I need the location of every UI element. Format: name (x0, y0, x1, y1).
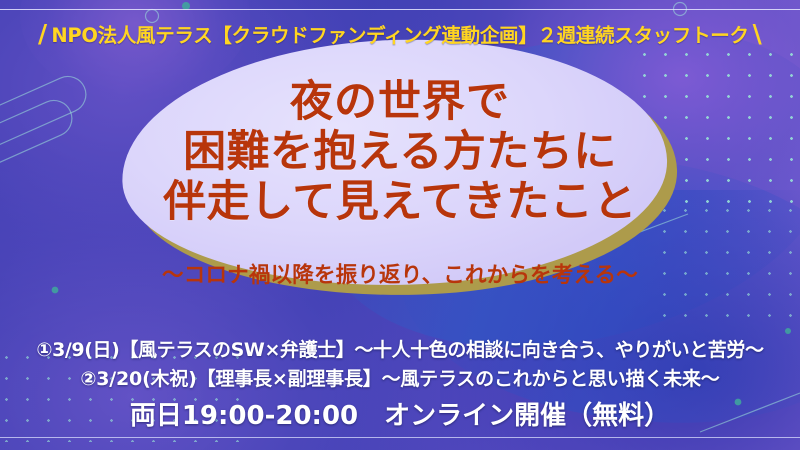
time-and-format-line: 両日19:00-20:00 オンライン開催（無料） (0, 395, 800, 432)
subtitle: 〜コロナ禍以降を振り返り、これからを考える〜 (0, 258, 800, 289)
event-flyer: \ NPO法人風テラス【クラウドファンディング連動企画】２週連続スタッフトーク … (0, 0, 800, 450)
session-1-line: ①3/9(日)【風テラスのSW×弁護士】〜十人十色の相談に向き合う、やりがいと苦… (0, 335, 800, 362)
title-line-2: 困難を抱える方たちに (0, 128, 800, 176)
schedule-block: ①3/9(日)【風テラスのSW×弁護士】〜十人十色の相談に向き合う、やりがいと苦… (0, 335, 800, 432)
session-2-line: ②3/20(木祝)【理事長×副理事長】〜風テラスのこれからと思い描く未来〜 (0, 364, 800, 391)
title-line-1: 夜の世界で (0, 78, 800, 126)
title-line-3: 伴走して見えてきたこと (0, 178, 800, 226)
main-title: 夜の世界で 困難を抱える方たちに 伴走して見えてきたこと (0, 78, 800, 226)
slash-right-icon: \ (753, 21, 762, 46)
header-title: NPO法人風テラス【クラウドファンディング連動企画】２週連続スタッフトーク (51, 19, 748, 48)
header-banner: \ NPO法人風テラス【クラウドファンディング連動企画】２週連続スタッフトーク … (0, 16, 800, 50)
slash-left-icon: \ (38, 21, 47, 46)
divider-bottom (0, 437, 800, 438)
divider-top (0, 9, 800, 10)
